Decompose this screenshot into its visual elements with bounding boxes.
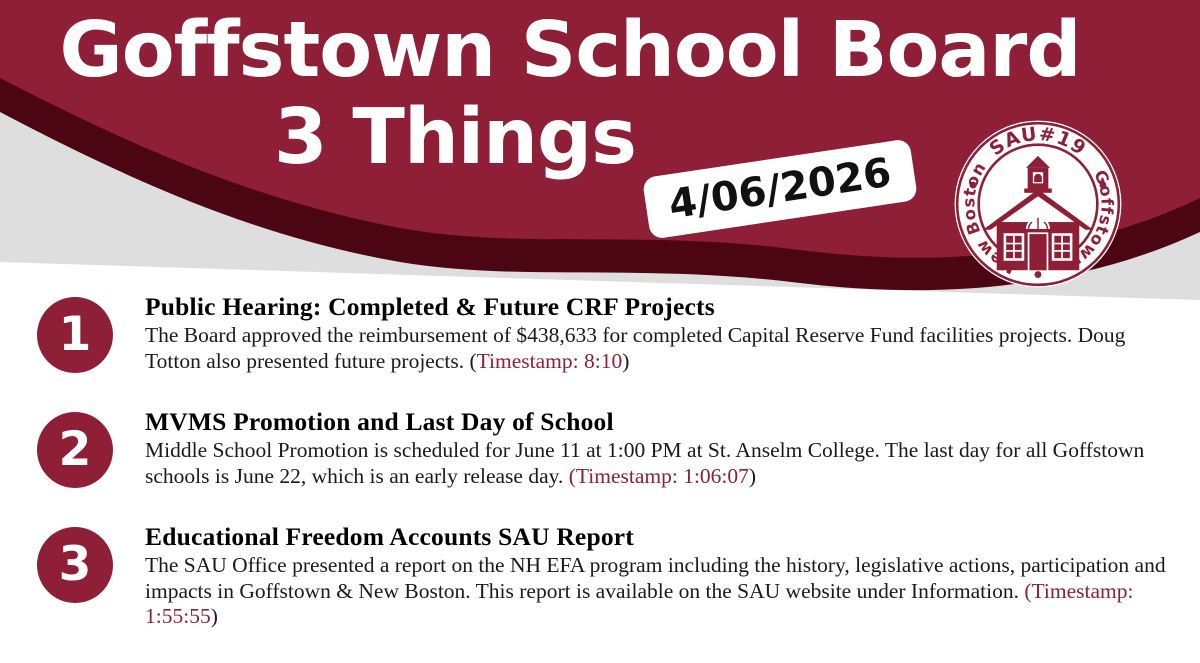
items-list: 1 Public Hearing: Completed & Future CRF… [0, 292, 1200, 663]
list-item: 3 Educational Freedom Accounts SAU Repor… [0, 522, 1200, 630]
paren-open: ( [469, 349, 476, 373]
item-description-text: The Board approved the reimbursement of … [145, 323, 1125, 373]
item-body: Educational Freedom Accounts SAU Report … [113, 522, 1200, 630]
item-description: The SAU Office presented a report on the… [145, 553, 1172, 630]
list-item: 1 Public Hearing: Completed & Future CRF… [0, 292, 1200, 374]
paren-close: ) [211, 604, 218, 628]
seal-dot-bottom [1035, 271, 1042, 278]
seal-dot-left [970, 182, 977, 189]
paren-close: ) [622, 349, 629, 373]
header-banner: Goffstown School Board 3 Things 4/06/202… [0, 0, 1200, 310]
item-body: Public Hearing: Completed & Future CRF P… [113, 292, 1200, 374]
item-number-badge: 3 [37, 527, 113, 603]
timestamp-label: Timestamp: 8:10 [477, 349, 623, 373]
item-description: Middle School Promotion is scheduled for… [145, 438, 1172, 489]
list-item: 2 MVMS Promotion and Last Day of School … [0, 407, 1200, 489]
paren-close: ) [749, 464, 756, 488]
item-number-badge: 2 [37, 412, 113, 488]
item-title: Public Hearing: Completed & Future CRF P… [145, 292, 1172, 322]
paren-open: ( [569, 464, 576, 488]
item-description: The Board approved the reimbursement of … [145, 323, 1172, 374]
item-body: MVMS Promotion and Last Day of School Mi… [113, 407, 1200, 489]
item-title: Educational Freedom Accounts SAU Report [145, 522, 1172, 552]
paren-open: ( [1024, 579, 1031, 603]
timestamp-label: Timestamp: 1:06:07 [576, 464, 749, 488]
item-description-text: The SAU Office presented a report on the… [145, 553, 1166, 603]
item-title: MVMS Promotion and Last Day of School [145, 407, 1172, 437]
sau19-seal-logo: SAU#19 Goffstown New Boston [952, 118, 1124, 290]
seal-dot-right [1099, 182, 1106, 189]
item-number-badge: 1 [37, 297, 113, 373]
